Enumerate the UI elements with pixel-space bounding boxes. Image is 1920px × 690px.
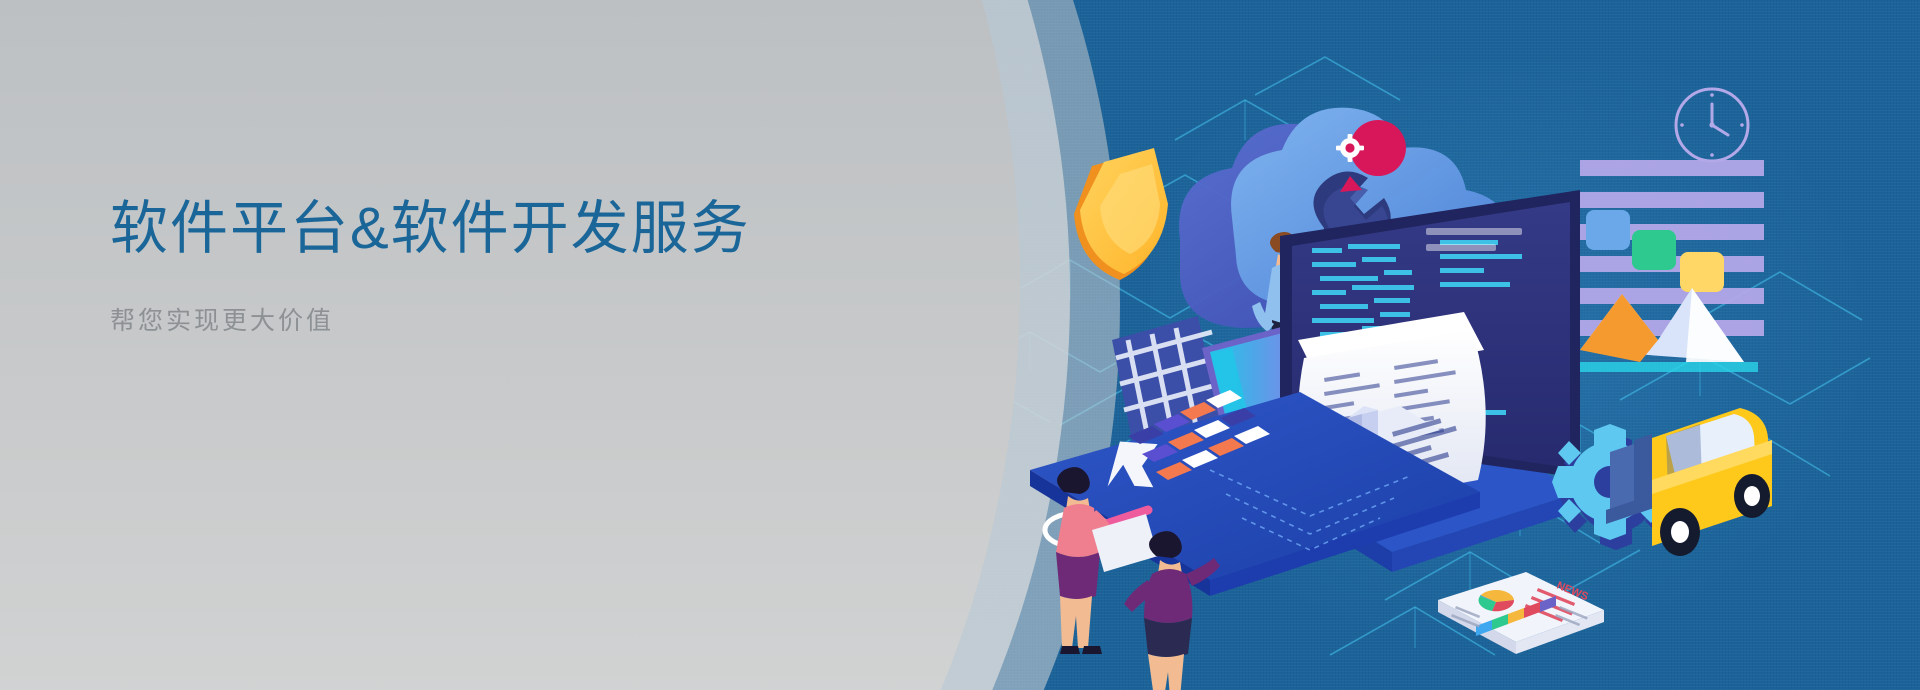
hero-illustration: NEWS [880,40,1920,690]
document-panel [1580,160,1764,336]
news-pie-chart [1479,590,1514,611]
clock-icon [1676,89,1748,161]
news-card: NEWS [1438,572,1604,654]
page-title: 软件平台&软件开发服务 [110,196,810,263]
hero-banner: 软件平台&软件开发服务 帮您实现更大价值 [0,0,1920,690]
page-subtitle: 帮您实现更大价值 [110,301,810,337]
curve-main-surface [0,0,1020,690]
shield-icon [1074,148,1168,280]
banner-text-block: 软件平台&软件开发服务 帮您实现更大价值 [110,196,810,337]
